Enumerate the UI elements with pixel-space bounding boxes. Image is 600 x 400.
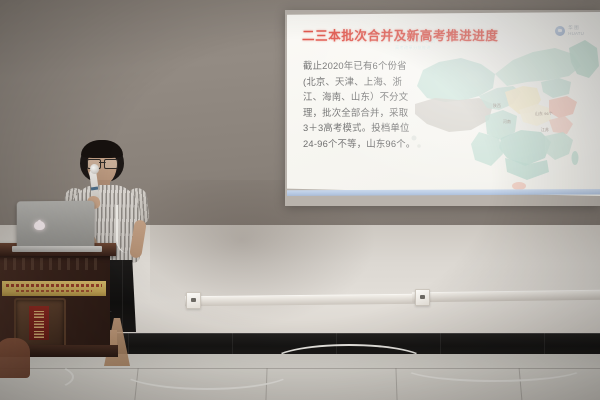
map-annotation-2: 山东 96个 bbox=[535, 112, 553, 117]
slide-body-line-2: 江、海南、山东）不分文 bbox=[303, 89, 428, 105]
map-annotation-0: 陕西 bbox=[493, 104, 501, 109]
wall-outlet-left[interactable] bbox=[186, 292, 201, 309]
microphone-cable bbox=[116, 205, 128, 253]
china-map-svg bbox=[409, 34, 600, 192]
map-annotation-3: 江苏 bbox=[541, 128, 549, 133]
slide-title: 二三本批次合并及新高考推进进度 bbox=[302, 25, 499, 44]
photo-scene: 取消三批次省份 高考改革分批推进 陕西 河南 山东 96个 江苏 二三本批次合并… bbox=[0, 0, 600, 400]
outlet-slot-icon bbox=[191, 298, 196, 302]
wall-outlet-right[interactable] bbox=[415, 289, 430, 306]
banner-text-line bbox=[16, 290, 92, 292]
floor-cable-segment bbox=[120, 352, 294, 390]
floor-cable-segment bbox=[402, 352, 586, 382]
organization-logo: 华 图 HUATU bbox=[555, 25, 584, 36]
china-map bbox=[409, 34, 600, 192]
plaque-inscription bbox=[29, 306, 49, 340]
skirt-pleat bbox=[122, 260, 123, 332]
slide-body-line-0: 截止2020年已有6个份省 bbox=[303, 58, 428, 74]
presentation-slide: 取消三批次省份 高考改革分批推进 陕西 河南 山东 96个 江苏 二三本批次合并… bbox=[287, 12, 600, 196]
slide-body-line-3: 理，批次全部合并，采取 bbox=[303, 105, 428, 121]
map-annotation-1: 河南 bbox=[503, 120, 511, 125]
logo-text: 华 图 HUATU bbox=[568, 25, 584, 36]
apple-logo-shape bbox=[34, 221, 45, 230]
apple-logo-icon bbox=[34, 218, 45, 230]
background-chair bbox=[0, 338, 30, 378]
slide-body-line-5: 24-96个不等，山东96个。 bbox=[303, 136, 428, 152]
plaque-character bbox=[34, 321, 44, 328]
glasses-lens-right bbox=[104, 159, 118, 169]
floor-cable-segment bbox=[272, 344, 426, 378]
macbook-base bbox=[12, 246, 102, 252]
lectern-banner bbox=[2, 281, 106, 296]
banner-text-line bbox=[6, 284, 102, 287]
slide-body-line-4: 3＋3高考模式。投档单位 bbox=[303, 120, 428, 136]
slide-body-text: 截止2020年已有6个份省 (北京、天津、上海、浙 江、海南、山东）不分文 理，… bbox=[303, 58, 428, 152]
logo-mark-icon bbox=[555, 26, 565, 36]
slide-body-line-1: (北京、天津、上海、浙 bbox=[303, 74, 428, 90]
macbook-lid[interactable] bbox=[17, 201, 95, 250]
lectern-carving bbox=[4, 258, 102, 270]
outlet-slot-icon bbox=[420, 295, 425, 299]
plaque-character bbox=[34, 331, 44, 338]
hair-fringe bbox=[81, 140, 123, 158]
plaque-character bbox=[34, 311, 44, 318]
